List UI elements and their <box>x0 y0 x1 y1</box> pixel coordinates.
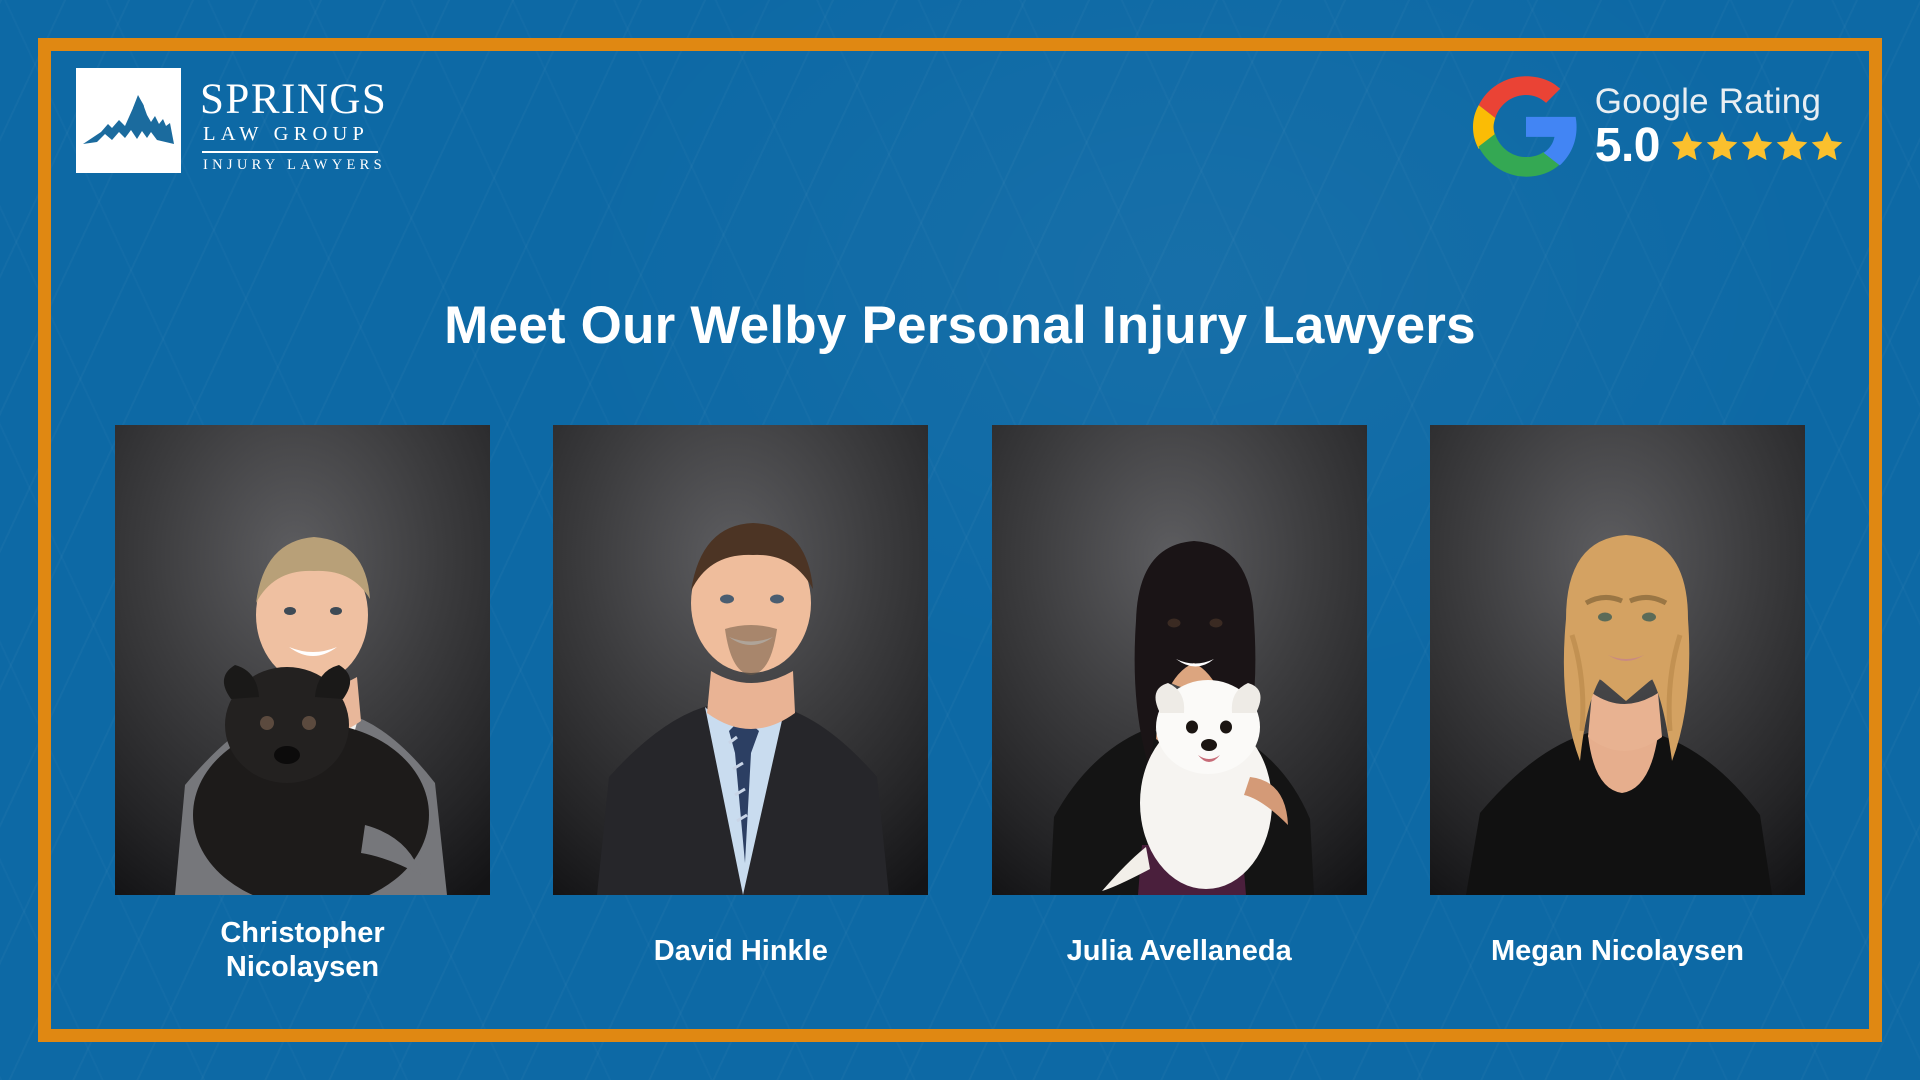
brand-divider <box>202 151 378 153</box>
team-member-name: Megan Nicolaysen <box>1430 935 1805 969</box>
team-member-name: Julia Avellaneda <box>992 935 1367 969</box>
google-g-icon <box>1473 74 1579 180</box>
team-member-card[interactable]: Julia Avellaneda <box>992 425 1367 984</box>
google-rating-badge[interactable]: Google Rating 5.0 <box>1473 74 1844 180</box>
brand-wordmark: SPRINGS LAW GROUP INJURY LAWYERS <box>200 68 387 174</box>
team-member-card[interactable]: David Hinkle <box>553 425 928 984</box>
brand-name-line2: LAW GROUP <box>200 121 387 149</box>
star-icon <box>1705 129 1739 163</box>
team-member-card[interactable]: Megan Nicolaysen <box>1430 425 1805 984</box>
google-rating-score: 5.0 <box>1595 122 1660 170</box>
star-icon <box>1775 129 1809 163</box>
megan-nicolaysen-photo <box>1430 425 1805 895</box>
david-hinkle-photo <box>553 425 928 895</box>
team-member-name: ChristopherNicolaysen <box>115 917 490 984</box>
star-icon <box>1810 129 1844 163</box>
mountain-logo-icon <box>76 68 181 173</box>
brand-name-line3: INJURY LAWYERS <box>200 157 387 174</box>
google-rating-label: Google Rating <box>1595 84 1844 120</box>
page-title: Meet Our Welby Personal Injury Lawyers <box>0 295 1920 356</box>
star-icon <box>1670 129 1704 163</box>
brand-logo[interactable]: SPRINGS LAW GROUP INJURY LAWYERS <box>76 68 387 174</box>
julia-avellaneda-photo <box>992 425 1367 895</box>
star-icon <box>1740 129 1774 163</box>
team-member-name-line: David Hinkle <box>553 935 928 969</box>
team-member-name-line: Megan Nicolaysen <box>1430 935 1805 969</box>
rating-text-block: Google Rating 5.0 <box>1595 84 1844 170</box>
team-member-name-line: Julia Avellaneda <box>992 935 1367 969</box>
team-member-name-line: Christopher <box>115 917 490 951</box>
team-grid: ChristopherNicolaysenDavid HinkleJulia A… <box>115 425 1805 984</box>
rating-stars <box>1670 129 1844 163</box>
rating-score-row: 5.0 <box>1595 122 1844 170</box>
brand-name-line1: SPRINGS <box>200 80 387 121</box>
christopher-nicolaysen-photo <box>115 425 490 895</box>
team-member-name: David Hinkle <box>553 935 928 969</box>
team-member-card[interactable]: ChristopherNicolaysen <box>115 425 490 984</box>
header: SPRINGS LAW GROUP INJURY LAWYERS Google … <box>76 68 1844 190</box>
team-member-name-line: Nicolaysen <box>115 951 490 985</box>
